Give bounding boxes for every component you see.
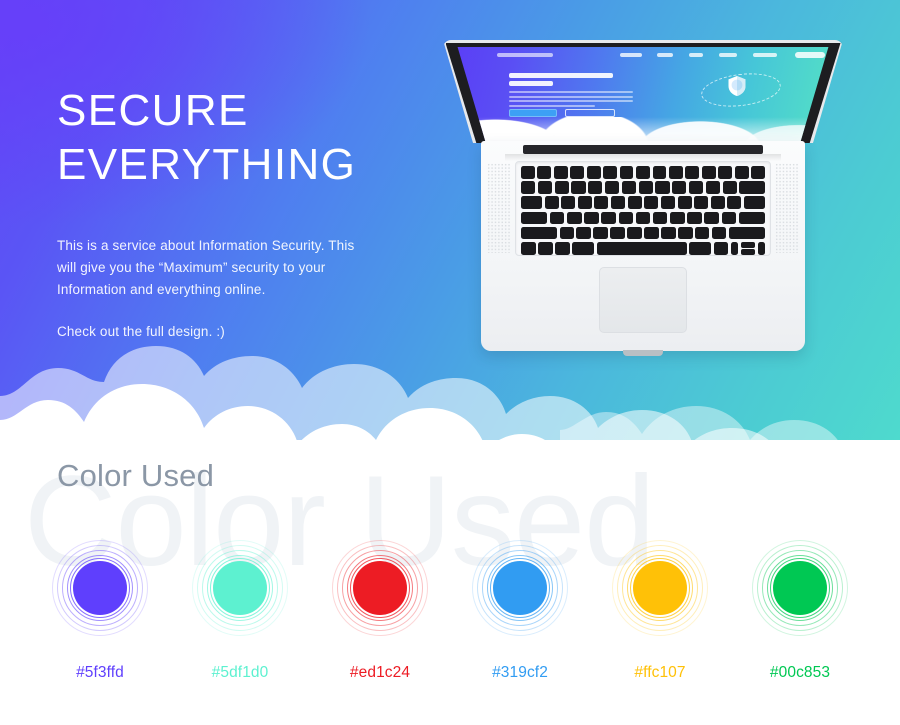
key <box>560 227 574 240</box>
key-arrow-up <box>741 242 756 248</box>
key-shift-right <box>729 227 765 240</box>
key <box>639 181 653 194</box>
swatch-dot <box>73 561 127 615</box>
key-shift-left <box>521 227 557 240</box>
key <box>521 166 535 179</box>
swatch-hex-label: #5df1d0 <box>170 664 310 682</box>
color-swatch-red[interactable]: #ed1c24 <box>310 540 450 682</box>
key-command-right <box>689 242 711 255</box>
laptop-hinge-shadow <box>505 154 781 161</box>
key <box>685 166 699 179</box>
key <box>636 212 651 225</box>
key <box>538 181 552 194</box>
keyboard-row-modifiers <box>521 242 765 255</box>
laptop-speaker-right <box>775 163 799 253</box>
key <box>678 196 692 209</box>
key <box>653 166 667 179</box>
keyboard-row-home <box>521 212 765 225</box>
website-headline-line-2 <box>509 81 553 86</box>
key <box>561 196 575 209</box>
key <box>653 212 668 225</box>
laptop-trackpad[interactable] <box>599 267 687 333</box>
page-root: SECURE EVERYTHING This is a service abou… <box>0 0 900 725</box>
swatch-rings <box>192 540 288 636</box>
website-body-line-4 <box>509 105 595 107</box>
keyboard-row-top <box>521 196 765 209</box>
website-body-line-3 <box>509 100 633 102</box>
key-command-left <box>572 242 594 255</box>
key <box>567 212 582 225</box>
key <box>718 166 732 179</box>
key <box>712 227 726 240</box>
key <box>603 166 617 179</box>
key <box>735 166 749 179</box>
key <box>711 196 725 209</box>
key <box>550 212 565 225</box>
key-return <box>739 212 765 225</box>
key <box>678 227 692 240</box>
key <box>661 196 675 209</box>
swatch-rings <box>472 540 568 636</box>
website-nav-item-3[interactable] <box>689 53 703 57</box>
key-capslock <box>521 212 547 225</box>
swatch-rings <box>332 540 428 636</box>
laptop-illustration <box>443 40 843 356</box>
color-palette-section: Color Used Color Used #5f3ffd <box>0 440 900 725</box>
key <box>605 181 619 194</box>
swatch-dot <box>353 561 407 615</box>
swatch-dot <box>633 561 687 615</box>
key <box>704 212 719 225</box>
key <box>594 196 608 209</box>
swatch-dot <box>213 561 267 615</box>
key <box>661 227 675 240</box>
swatch-rings <box>752 540 848 636</box>
laptop-screen <box>453 47 833 141</box>
key <box>751 166 765 179</box>
swatch-hex-label: #319cf2 <box>450 664 590 682</box>
website-body-line-1 <box>509 91 633 93</box>
key-fn <box>521 242 536 255</box>
key-tab <box>521 196 542 209</box>
key <box>521 181 535 194</box>
key <box>636 166 650 179</box>
keyboard-row-function <box>521 166 765 179</box>
swatch-dot <box>773 561 827 615</box>
key <box>554 166 568 179</box>
website-logo <box>497 53 553 57</box>
key-arrow-updown <box>741 242 756 255</box>
key <box>578 196 592 209</box>
swatch-dot <box>493 561 547 615</box>
key-control <box>538 242 553 255</box>
key <box>695 227 709 240</box>
key-option-right <box>714 242 729 255</box>
website-headline <box>509 73 613 89</box>
palette-heading: Color Used <box>57 458 214 494</box>
key-backspace <box>739 181 765 194</box>
website-primary-button[interactable] <box>509 109 557 117</box>
key <box>670 212 685 225</box>
website-cloud-graphic <box>453 117 833 141</box>
key <box>723 181 737 194</box>
laptop-lid <box>443 40 843 143</box>
key <box>694 196 708 209</box>
key <box>672 181 686 194</box>
laptop-keyboard[interactable] <box>515 161 771 256</box>
key <box>628 196 642 209</box>
key <box>593 227 607 240</box>
swatch-hex-label: #ffc107 <box>590 664 730 682</box>
keyboard-row-bottom <box>521 227 765 240</box>
key-arrow-left <box>731 242 738 255</box>
key <box>722 212 737 225</box>
key <box>627 227 641 240</box>
website-navbar <box>453 47 833 64</box>
keyboard-row-numbers <box>521 181 765 194</box>
key <box>587 166 601 179</box>
key <box>622 181 636 194</box>
shield-globe-icon <box>727 75 747 97</box>
key <box>555 181 569 194</box>
key <box>727 196 741 209</box>
key <box>620 166 634 179</box>
website-nav-item-5[interactable] <box>753 53 777 57</box>
key <box>687 212 702 225</box>
key <box>601 212 616 225</box>
hero-cta-note: Check out the full design. :) <box>57 321 397 343</box>
color-swatch-blue[interactable]: #319cf2 <box>450 540 590 682</box>
laptop-bottom-notch <box>623 350 663 356</box>
key <box>576 227 590 240</box>
swatch-rings <box>52 540 148 636</box>
website-body-line-2 <box>509 96 633 98</box>
key-space <box>597 242 687 255</box>
key <box>702 166 716 179</box>
key <box>545 196 559 209</box>
key <box>644 227 658 240</box>
website-nav-button[interactable] <box>795 52 825 58</box>
website-headline-line-1 <box>509 73 613 78</box>
key-option-left <box>555 242 570 255</box>
swatch-hex-label: #ed1c24 <box>310 664 450 682</box>
swatch-hex-label: #00c853 <box>730 664 870 682</box>
key <box>537 166 551 179</box>
key-arrow-right <box>758 242 765 255</box>
laptop-hinge <box>523 145 763 154</box>
key-arrow-down <box>741 249 756 255</box>
key <box>611 196 625 209</box>
website-nav-item-2[interactable] <box>657 53 673 57</box>
laptop-speaker-left <box>487 163 511 253</box>
key <box>689 181 703 194</box>
hero-text-block: SECURE EVERYTHING This is a service abou… <box>57 84 397 343</box>
key <box>655 181 669 194</box>
key <box>570 166 584 179</box>
key <box>610 227 624 240</box>
laptop-base <box>481 141 805 351</box>
key <box>571 181 585 194</box>
hero-description: This is a service about Information Secu… <box>57 235 369 301</box>
website-secondary-button[interactable] <box>565 109 615 117</box>
swatch-hex-label: #5f3ffd <box>30 664 170 682</box>
color-swatch-row: #5f3ffd #5df1d0 <box>0 540 900 700</box>
swatch-rings <box>612 540 708 636</box>
key-backslash <box>744 196 765 209</box>
hero-section: SECURE EVERYTHING This is a service abou… <box>0 0 900 455</box>
color-swatch-mint[interactable]: #5df1d0 <box>170 540 310 682</box>
key <box>588 181 602 194</box>
website-nav-item-1[interactable] <box>620 53 642 57</box>
website-nav-item-4[interactable] <box>719 53 737 57</box>
key <box>584 212 599 225</box>
key <box>619 212 634 225</box>
key <box>706 181 720 194</box>
color-swatch-purple[interactable]: #5f3ffd <box>30 540 170 682</box>
color-swatch-green[interactable]: #00c853 <box>730 540 870 682</box>
key <box>644 196 658 209</box>
website-body-text <box>509 91 633 109</box>
key <box>669 166 683 179</box>
page-title: SECURE EVERYTHING <box>57 84 397 191</box>
color-swatch-amber[interactable]: #ffc107 <box>590 540 730 682</box>
